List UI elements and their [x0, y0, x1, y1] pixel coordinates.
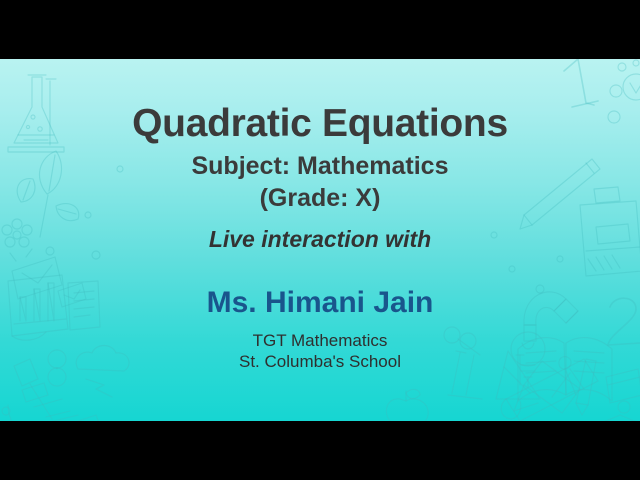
video-player-frame: Quadratic Equations Subject: Mathematics…: [0, 0, 640, 480]
presenter-name: Ms. Himani Jain: [0, 288, 640, 318]
letterbox-bottom-bar: [0, 421, 640, 480]
page-title: Quadratic Equations: [0, 104, 640, 143]
subject-line: Subject: Mathematics: [0, 154, 640, 179]
presentation-slide: Quadratic Equations Subject: Mathematics…: [0, 59, 640, 421]
presenter-role: TGT Mathematics: [0, 332, 640, 349]
live-interaction-label: Live interaction with: [0, 228, 640, 251]
letterbox-top-bar: [0, 0, 640, 59]
slide-text-content: Quadratic Equations Subject: Mathematics…: [0, 59, 640, 421]
presenter-school: St. Columba's School: [0, 353, 640, 370]
grade-line: (Grade: X): [0, 186, 640, 211]
